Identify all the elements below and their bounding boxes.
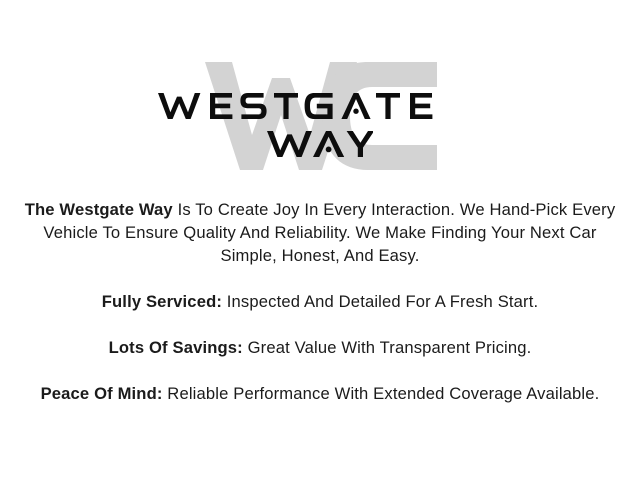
paragraph-body-fully-serviced: Inspected And Detailed For A Fresh Start… — [222, 292, 538, 311]
wordmark-line-way: WAY — [0, 129, 640, 161]
westgate-way-banner: WESTGATE — [0, 0, 640, 480]
paragraph-lead-lots-of-savings: Lots Of Savings: — [109, 338, 243, 357]
paragraph-lead-peace-of-mind: Peace Of Mind: — [41, 384, 163, 403]
way-lettering: WAY — [267, 129, 373, 159]
paragraph-lots-of-savings: Lots Of Savings: Great Value With Transp… — [16, 336, 624, 359]
paragraph-body-peace-of-mind: Reliable Performance With Extended Cover… — [163, 384, 600, 403]
paragraph-westgate-way: The Westgate Way Is To Create Joy In Eve… — [16, 198, 624, 267]
westgate-lettering: WESTGATE — [158, 91, 482, 121]
paragraph-lead-westgate-way: The Westgate Way — [25, 200, 173, 219]
paragraph-fully-serviced: Fully Serviced: Inspected And Detailed F… — [16, 290, 624, 313]
wordmark-line-westgate: WESTGATE — [0, 91, 640, 123]
paragraph-lead-fully-serviced: Fully Serviced: — [102, 292, 222, 311]
paragraph-peace-of-mind: Peace Of Mind: Reliable Performance With… — [16, 382, 624, 405]
paragraph-body-lots-of-savings: Great Value With Transparent Pricing. — [243, 338, 532, 357]
value-proposition-copy: The Westgate Way Is To Create Joy In Eve… — [16, 198, 624, 405]
wordmark: WESTGATE — [0, 52, 640, 177]
logo-lockup: WESTGATE — [0, 52, 640, 177]
